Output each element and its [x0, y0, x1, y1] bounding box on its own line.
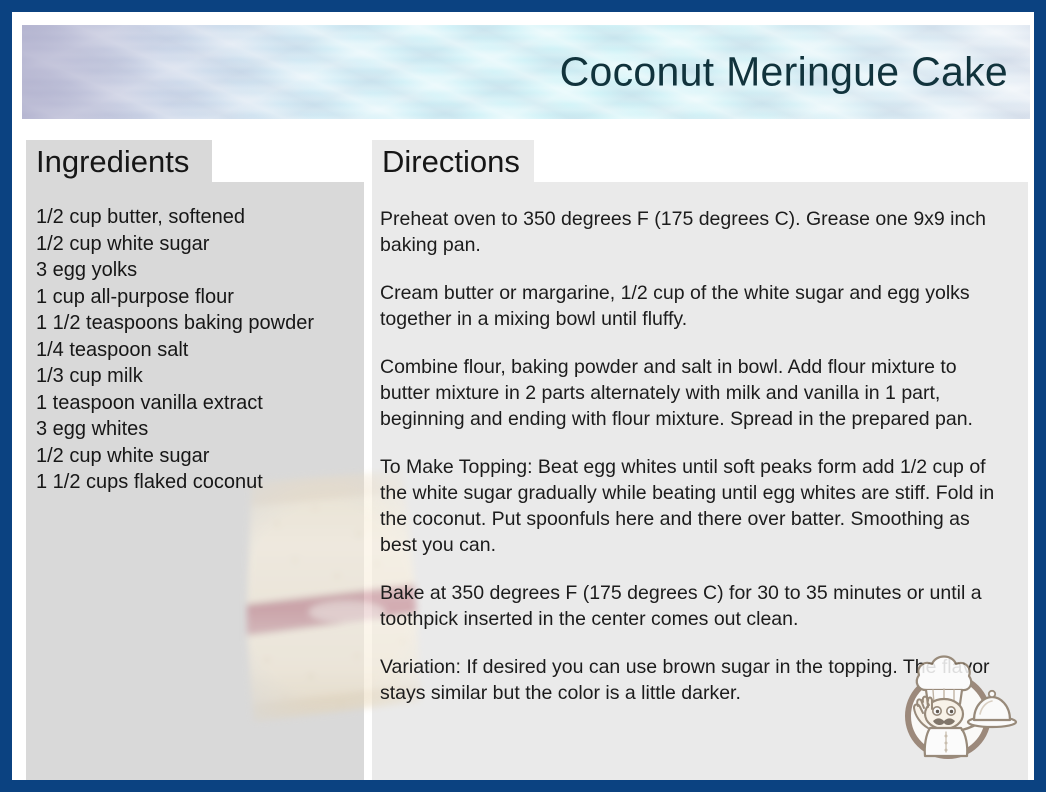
direction-step: To Make Topping: Beat egg whites until s… — [380, 454, 1010, 558]
ingredients-heading-tab: Ingredients — [26, 140, 212, 182]
list-item: 1/4 teaspoon salt — [36, 337, 358, 364]
ingredients-list: 1/2 cup butter, softened 1/2 cup white s… — [36, 204, 358, 496]
page-title: Coconut Meringue Cake — [560, 50, 1008, 93]
direction-step: Variation: If desired you can use brown … — [380, 654, 1010, 706]
list-item: 1 1/2 cups flaked coconut — [36, 469, 358, 496]
list-item: 3 egg whites — [36, 416, 358, 443]
list-item: 1/3 cup milk — [36, 363, 358, 390]
list-item: 1/2 cup butter, softened — [36, 204, 358, 231]
list-item: 1 teaspoon vanilla extract — [36, 390, 358, 417]
banner-left-wash — [22, 25, 322, 119]
ingredients-heading-label: Ingredients — [36, 146, 189, 177]
direction-step: Bake at 350 degrees F (175 degrees C) fo… — [380, 580, 1010, 632]
directions-heading-label: Directions — [382, 146, 520, 177]
directions-list: Preheat oven to 350 degrees F (175 degre… — [380, 206, 1010, 706]
direction-step: Combine flour, baking powder and salt in… — [380, 354, 1010, 432]
directions-heading-tab: Directions — [372, 140, 534, 182]
direction-step: Cream butter or margarine, 1/2 cup of th… — [380, 280, 1010, 332]
list-item: 3 egg yolks — [36, 257, 358, 284]
list-item: 1/2 cup white sugar — [36, 443, 358, 470]
direction-step: Preheat oven to 350 degrees F (175 degre… — [380, 206, 1010, 258]
list-item: 1 1/2 teaspoons baking powder — [36, 310, 358, 337]
list-item: 1/2 cup white sugar — [36, 231, 358, 258]
recipe-card: Coconut Meringue Cake — [0, 0, 1046, 792]
list-item: 1 cup all-purpose flour — [36, 284, 358, 311]
header-banner: Coconut Meringue Cake — [22, 25, 1030, 119]
